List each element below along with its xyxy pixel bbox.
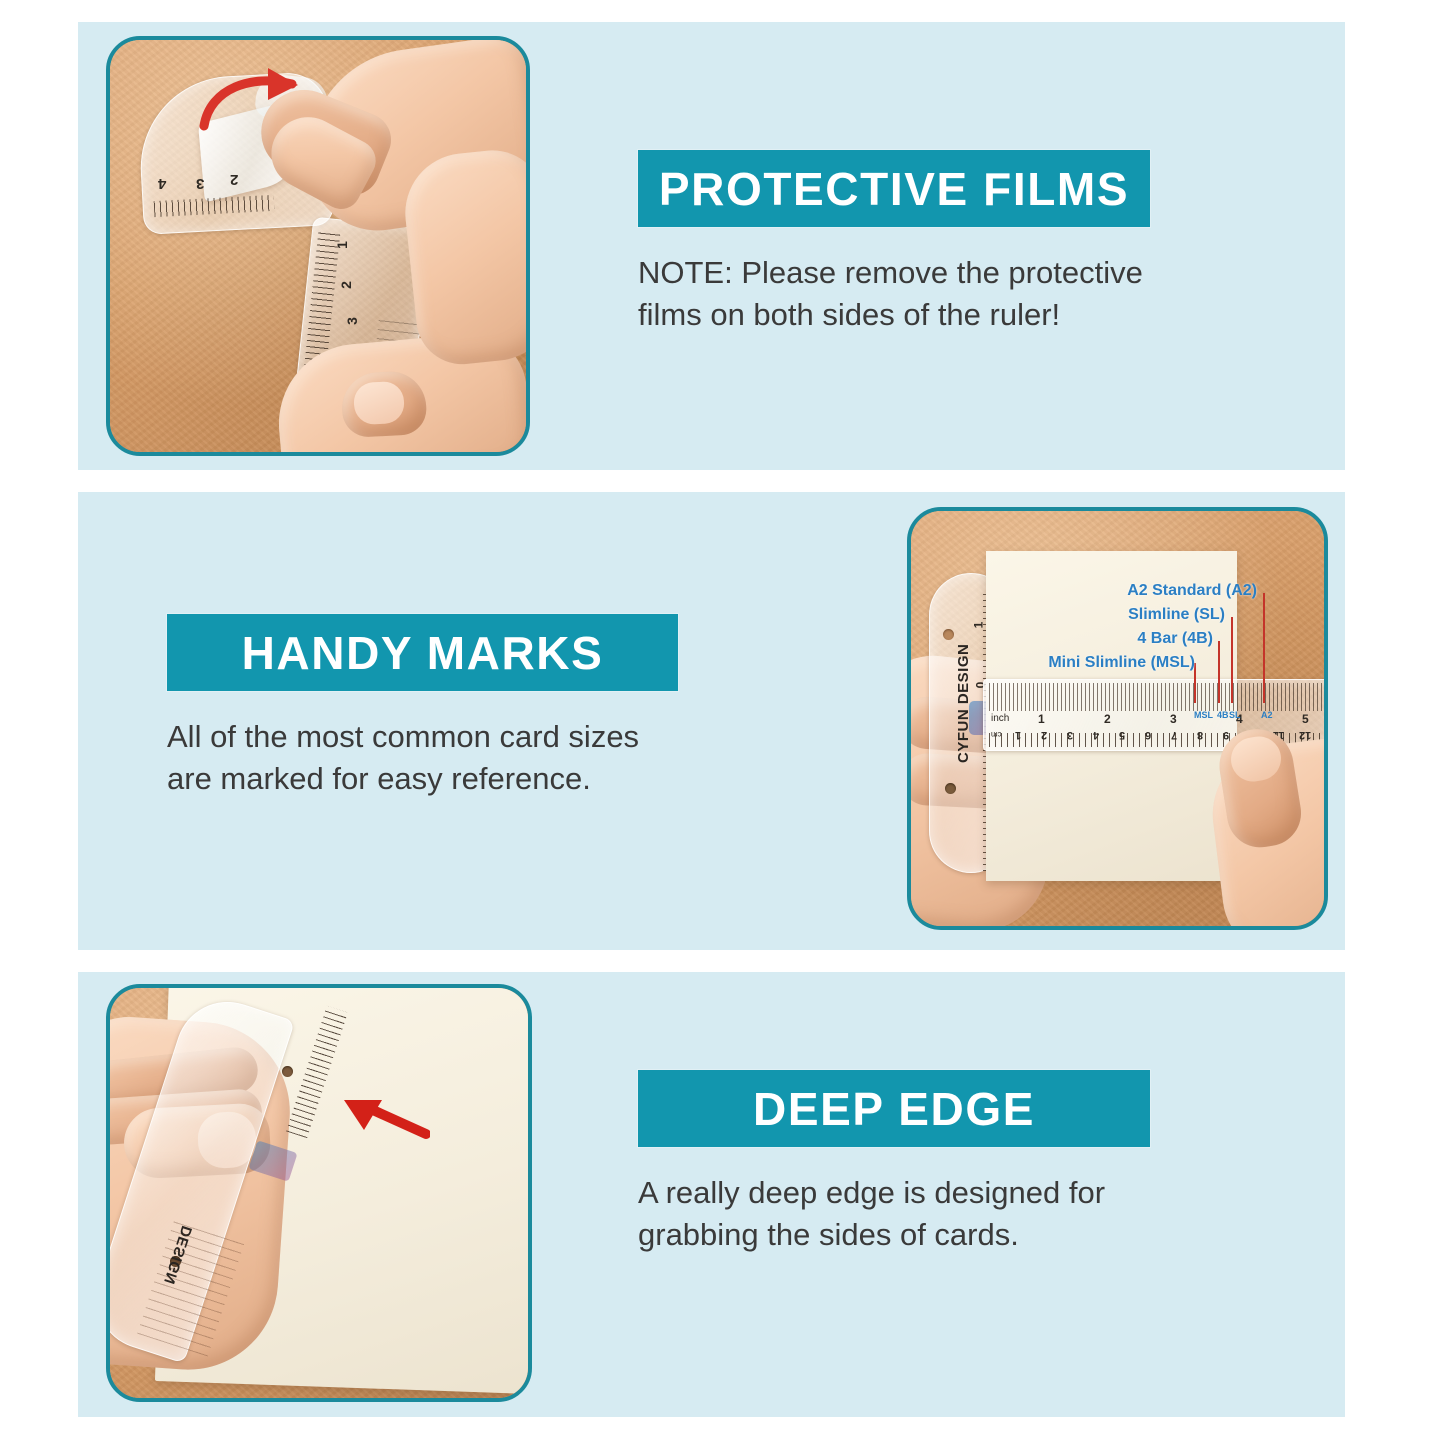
- body-line-2: films on both sides of the ruler!: [638, 297, 1060, 332]
- ruler-cm-8: 8: [1197, 729, 1203, 740]
- ruler-fraction-ticks: [989, 683, 1328, 711]
- curved-red-arrow-icon: [198, 66, 318, 138]
- ruler-screw-hole-top: [282, 1066, 293, 1077]
- heading-bar-handy-marks: HANDY MARKS: [167, 614, 678, 691]
- ruler-cm-9: 9: [1223, 729, 1229, 740]
- leader-line-4b: [1218, 641, 1220, 703]
- ruler-vert-number-1: 1: [972, 622, 984, 629]
- text-block-deep-edge: DEEP EDGE A really deep edge is designed…: [638, 1070, 1298, 1257]
- ruler-number-vert-1: 1: [335, 241, 349, 249]
- thumbnail-lower: [353, 381, 405, 426]
- heading-text-protective-films: PROTECTIVE FILMS: [659, 166, 1129, 212]
- heading-text-handy-marks: HANDY MARKS: [242, 630, 604, 676]
- callout-4-bar: 4 Bar (4B): [985, 631, 1213, 647]
- heading-bar-deep-edge: DEEP EDGE: [638, 1070, 1150, 1147]
- leader-line-a2: [1263, 593, 1265, 703]
- ruler-number-3: 3: [196, 176, 204, 191]
- ruler-mark-sl: SL: [1229, 710, 1241, 720]
- body-line-2: are marked for easy reference.: [167, 761, 591, 796]
- ruler-number-vert-2: 2: [339, 281, 353, 289]
- body-line-1: A really deep edge is designed for: [638, 1175, 1105, 1210]
- feature-panel-protective-films: 4 3 2 1 2 3 4: [78, 22, 1345, 470]
- body-line-1: All of the most common card sizes: [167, 719, 639, 754]
- ruler-inch-3: 3: [1170, 713, 1177, 725]
- text-block-handy-marks: HANDY MARKS All of the most common card …: [167, 614, 827, 801]
- leader-line-sl: [1231, 617, 1233, 703]
- callout-slimline: Slimline (SL): [997, 607, 1225, 623]
- body-text-protective-films: NOTE: Please remove the protective films…: [638, 252, 1298, 337]
- ruler-number-2: 2: [230, 172, 238, 187]
- card-size-marks-photo: CYFUN DESIGN 1 0 0 1 3 4 inch cm 1 2 3 4…: [907, 507, 1328, 930]
- ruler-inch-1: 1: [1038, 713, 1045, 725]
- body-text-deep-edge: A really deep edge is designed for grabb…: [638, 1172, 1298, 1257]
- body-line-1: NOTE: Please remove the protective: [638, 255, 1143, 290]
- ruler-inch-5: 5: [1302, 713, 1309, 725]
- ruler-mark-4b: 4B: [1217, 710, 1229, 720]
- ruler-cm-3: 3: [1067, 729, 1073, 740]
- ruler-cm-6: 6: [1145, 729, 1151, 740]
- ruler-screw-hole-bottom: [945, 783, 956, 794]
- ruler-inch-2: 2: [1104, 713, 1111, 725]
- ruler-mark-a2: A2: [1261, 710, 1273, 720]
- text-block-protective-films: PROTECTIVE FILMS NOTE: Please remove the…: [638, 150, 1298, 337]
- ruler-number-vert-3: 3: [345, 317, 359, 325]
- body-text-handy-marks: All of the most common card sizes are ma…: [167, 716, 827, 801]
- deep-edge-photo: DESIGN: [106, 984, 532, 1402]
- ruler-cm-2: 2: [1041, 729, 1047, 740]
- callout-mini-slimline: Mini Slimline (MSL): [967, 655, 1195, 671]
- ruler-cm-5: 5: [1119, 729, 1125, 740]
- ruler-cm-7: 7: [1171, 729, 1177, 740]
- straight-red-arrow-icon: [338, 1094, 430, 1142]
- ruler-inch-label: inch: [991, 714, 1009, 724]
- ruler-cm-12: 12: [1299, 729, 1311, 740]
- body-line-2: grabbing the sides of cards.: [638, 1217, 1019, 1252]
- feature-panel-handy-marks: HANDY MARKS All of the most common card …: [78, 492, 1345, 950]
- heading-text-deep-edge: DEEP EDGE: [753, 1086, 1035, 1132]
- ruler-cm-1: 1: [1015, 729, 1021, 740]
- peeling-protective-film-photo: 4 3 2 1 2 3 4: [106, 36, 530, 456]
- ruler-screw-hole-top: [943, 629, 954, 640]
- ruler-mark-msl: MSL: [1194, 710, 1213, 720]
- ruler-cm-4: 4: [1093, 729, 1099, 740]
- callout-a2-standard: A2 Standard (A2): [1029, 583, 1257, 599]
- ruler-number-4: 4: [158, 176, 166, 191]
- hand-right-lower-knuckles: [399, 145, 530, 368]
- heading-bar-protective-films: PROTECTIVE FILMS: [638, 150, 1150, 227]
- ruler-cm-label: cm: [991, 730, 1002, 738]
- product-feature-infographic: 4 3 2 1 2 3 4: [0, 0, 1445, 1445]
- feature-panel-deep-edge: DESIGN DEEP EDGE A really deep edge is d…: [78, 972, 1345, 1417]
